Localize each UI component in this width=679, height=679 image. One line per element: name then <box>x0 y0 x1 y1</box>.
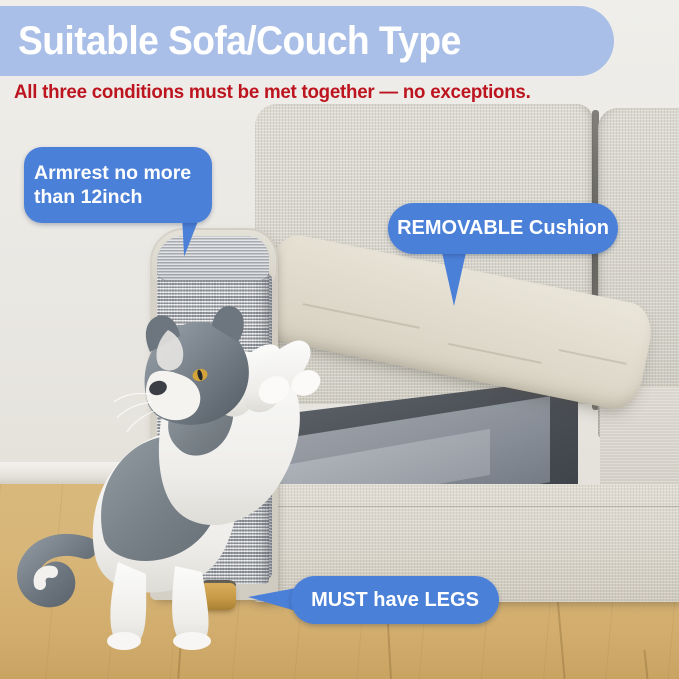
callout-armrest[interactable]: Armrest no more than 12inch <box>24 147 212 223</box>
product-infographic: Suitable Sofa/Couch Type All three condi… <box>0 0 679 679</box>
callout-must-have-legs[interactable]: MUST have LEGS <box>291 576 499 624</box>
title-banner: Suitable Sofa/Couch Type <box>0 6 614 76</box>
page-title: Suitable Sofa/Couch Type <box>18 19 461 64</box>
callout-cushion-tail <box>441 248 467 306</box>
callout-cushion-label: REMOVABLE Cushion <box>397 217 609 240</box>
cat-hind-paw-front <box>173 632 211 650</box>
cat-hind-paw-back <box>107 632 141 650</box>
callout-removable-cushion[interactable]: REMOVABLE Cushion <box>388 203 618 254</box>
callout-armrest-line1: Armrest no more <box>34 162 191 184</box>
subtitle-warning: All three conditions must be met togethe… <box>14 81 531 104</box>
callout-armrest-label: Armrest no more than 12inch <box>34 161 191 210</box>
callout-legs-label: MUST have LEGS <box>311 589 479 612</box>
callout-armrest-line2: than 12inch <box>34 186 142 208</box>
callout-legs-tail <box>248 588 296 611</box>
